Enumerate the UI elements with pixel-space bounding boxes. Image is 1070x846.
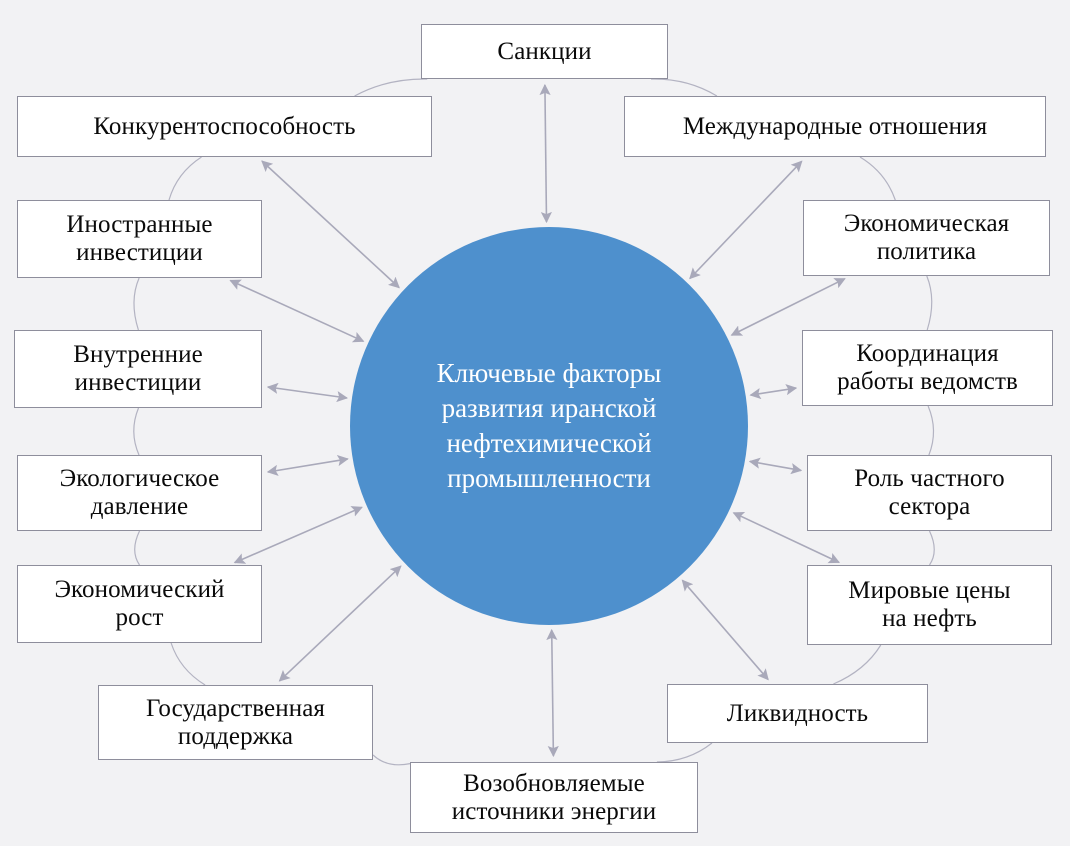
node-label-renewables: Возобновляемые источники энергии xyxy=(417,770,691,826)
ring-connector-private-sector-oil-prices xyxy=(930,531,935,565)
hub-connector-renewables xyxy=(552,630,554,756)
node-eco-pressure[interactable]: Экологическое давление xyxy=(17,455,262,531)
hub-connector-domestic-invest xyxy=(268,387,347,398)
hub-connector-coordination xyxy=(751,388,797,395)
node-econ-policy[interactable]: Экономическая политика xyxy=(803,200,1050,276)
hub-connector-private-sector xyxy=(750,461,801,470)
node-oil-prices[interactable]: Мировые цены на нефть xyxy=(807,565,1052,645)
node-private-sector[interactable]: Роль частного сектора xyxy=(807,455,1052,531)
hub-connector-econ-policy xyxy=(732,279,845,335)
node-label-oil-prices: Мировые цены на нефть xyxy=(814,577,1045,633)
ring-connector-domestic-invest-foreign-invest xyxy=(134,278,139,330)
node-label-coordination: Координация работы ведомств xyxy=(809,340,1046,396)
node-label-econ-policy: Экономическая политика xyxy=(810,210,1043,266)
node-label-foreign-invest: Иностранные инвестиции xyxy=(24,211,255,267)
ring-connector-state-support-econ-growth xyxy=(171,643,205,685)
node-domestic-invest[interactable]: Внутренние инвестиции xyxy=(14,330,262,408)
ring-connector-renewables-state-support xyxy=(373,755,410,765)
node-foreign-invest[interactable]: Иностранные инвестиции xyxy=(17,200,262,278)
diagram-canvas: Ключевые факторы развития иранской нефте… xyxy=(0,0,1070,846)
ring-connector-competitiveness-sanctions xyxy=(355,79,428,96)
node-label-econ-growth: Экономический рост xyxy=(24,576,255,632)
node-label-intl-relations: Международные отношения xyxy=(631,113,1039,141)
node-label-sanctions: Санкции xyxy=(428,38,661,66)
central-hub: Ключевые факторы развития иранской нефте… xyxy=(350,227,748,625)
ring-connector-coordination-private-sector xyxy=(928,406,933,455)
node-liquidity[interactable]: Ликвидность xyxy=(667,684,928,743)
ring-connector-intl-relations-econ-policy xyxy=(860,157,895,200)
ring-connector-foreign-invest-competitiveness xyxy=(169,157,202,200)
node-state-support[interactable]: Государственная поддержка xyxy=(98,685,373,760)
node-label-liquidity: Ликвидность xyxy=(674,700,921,728)
central-hub-label: Ключевые факторы развития иранской нефте… xyxy=(403,356,696,496)
hub-connector-eco-pressure xyxy=(268,459,348,472)
node-competitiveness[interactable]: Конкурентоспособность xyxy=(17,96,432,157)
node-sanctions[interactable]: Санкции xyxy=(421,24,668,79)
node-intl-relations[interactable]: Международные отношения xyxy=(624,96,1046,157)
node-label-domestic-invest: Внутренние инвестиции xyxy=(21,341,255,397)
ring-connector-econ-policy-coordination xyxy=(927,276,932,330)
node-label-private-sector: Роль частного сектора xyxy=(814,465,1045,521)
node-label-state-support: Государственная поддержка xyxy=(105,695,366,751)
ring-connector-oil-prices-liquidity xyxy=(833,645,880,684)
node-label-eco-pressure: Экологическое давление xyxy=(24,465,255,521)
node-econ-growth[interactable]: Экономический рост xyxy=(17,565,262,643)
hub-connector-sanctions xyxy=(545,85,547,222)
hub-connector-state-support xyxy=(280,566,401,681)
node-renewables[interactable]: Возобновляемые источники энергии xyxy=(410,762,698,833)
ring-connector-sanctions-intl-relations xyxy=(651,79,717,96)
node-coordination[interactable]: Координация работы ведомств xyxy=(802,330,1053,406)
hub-connector-competitiveness xyxy=(262,161,399,288)
node-label-competitiveness: Конкурентоспособность xyxy=(24,113,425,141)
ring-connector-eco-pressure-domestic-invest xyxy=(134,408,139,455)
ring-connector-liquidity-renewables xyxy=(657,743,712,762)
hub-connector-liquidity xyxy=(682,580,768,679)
hub-connector-intl-relations xyxy=(690,161,802,278)
ring-connector-econ-growth-eco-pressure xyxy=(135,531,140,565)
